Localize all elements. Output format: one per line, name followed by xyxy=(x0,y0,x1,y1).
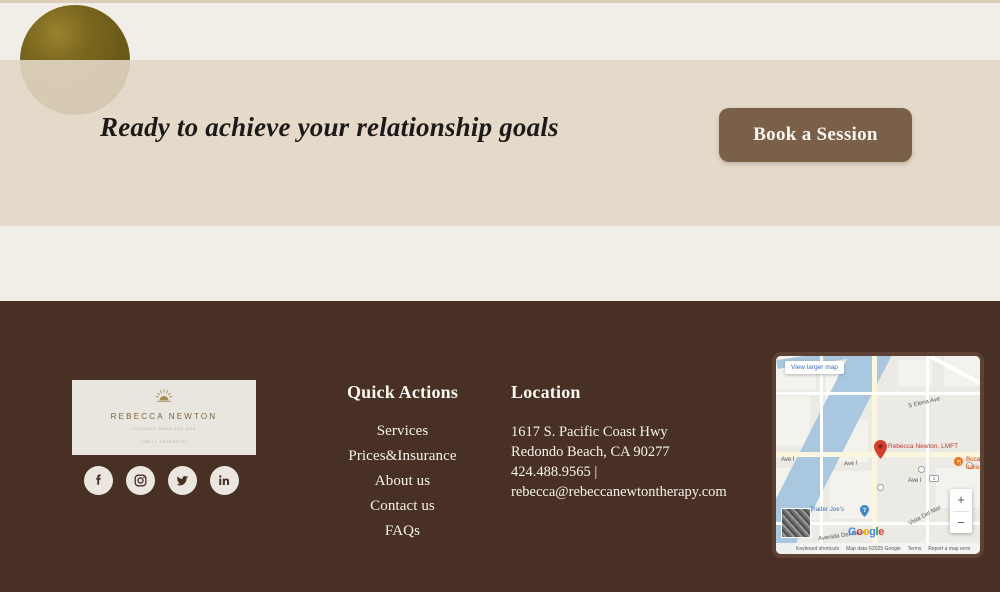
quick-actions-title: Quick Actions xyxy=(290,382,515,403)
brand-name: REBECCA NEWTON xyxy=(111,412,218,421)
map-canvas[interactable]: 1 Rebecca Newton, LMFT S Elena Ave Ave I… xyxy=(776,356,980,554)
map-marker-label: Rebecca Newton, LMFT xyxy=(888,443,958,450)
twitter-icon[interactable] xyxy=(168,466,197,495)
map-label-trader-joes[interactable]: Trader Joe's xyxy=(810,506,844,513)
map-transit-icon-1 xyxy=(918,466,925,473)
band-cream-bottom xyxy=(0,226,1000,301)
quick-actions-list: Services Prices&Insurance About us Conta… xyxy=(290,423,515,540)
location-title: Location xyxy=(511,382,766,403)
quick-action-services[interactable]: Services xyxy=(290,423,515,440)
keyboard-shortcuts-link[interactable]: Keyboard shortcuts xyxy=(796,546,839,552)
map-label-s-elena-ave: S Elena Ave xyxy=(908,396,941,409)
phone-number[interactable]: 424.488.9565 | xyxy=(511,462,766,482)
map-data-text: Map data ©2025 Google xyxy=(846,546,901,552)
map-highway-shield: 1 xyxy=(929,475,939,482)
quick-actions-column: Quick Actions Services Prices&Insurance … xyxy=(290,382,515,548)
google-map-widget[interactable]: 1 Rebecca Newton, LMFT S Elena Ave Ave I… xyxy=(772,352,984,558)
google-logo: Google xyxy=(848,526,884,538)
quick-action-faqs[interactable]: FAQs xyxy=(290,523,515,540)
linkedin-icon[interactable] xyxy=(210,466,239,495)
band-cream-top xyxy=(0,3,1000,60)
map-marker-pin[interactable] xyxy=(874,440,887,459)
map-label-ave-i-left: Ave I xyxy=(781,457,795,463)
report-map-error-link[interactable]: Report a map error xyxy=(928,546,970,552)
address-line-1: 1617 S. Pacific Coast Hwy xyxy=(511,422,766,442)
map-label-ave-i-mid: Ave I xyxy=(844,461,858,468)
zoom-out-button[interactable]: − xyxy=(950,512,972,534)
brand-tagline-line2: FAMILY THERAPIST xyxy=(140,439,187,447)
email-address[interactable]: rebecca@rebeccanewtontherapy.com xyxy=(511,482,766,502)
map-label-buca-line2: Italia xyxy=(966,464,979,471)
quick-action-prices-insurance[interactable]: Prices&Insurance xyxy=(290,448,515,465)
map-poi-restaurant-icon[interactable] xyxy=(954,457,963,466)
zoom-in-button[interactable]: + xyxy=(950,489,972,511)
brand-tagline-line1: LICENSED MARRIAGE AND xyxy=(132,426,196,434)
map-label-ave-i-right: Ave I xyxy=(908,478,922,484)
book-a-session-button[interactable]: Book a Session xyxy=(719,108,912,162)
map-attribution-bar: Keyboard shortcuts Map data ©2025 Google… xyxy=(776,543,980,554)
social-links xyxy=(84,466,239,495)
map-label-buca-line1: Buca xyxy=(966,456,980,463)
map-street-view-thumbnail[interactable] xyxy=(781,508,811,538)
terms-link[interactable]: Terms xyxy=(908,546,922,552)
brand-logo-card: REBECCA NEWTON LICENSED MARRIAGE AND FAM… xyxy=(72,380,256,455)
sunburst-icon xyxy=(155,389,173,407)
page-title: Ready to achieve your relationship goals xyxy=(100,112,559,143)
map-zoom-controls[interactable]: + − xyxy=(950,489,972,533)
map-trader-joes-pin[interactable] xyxy=(860,504,868,515)
view-larger-map-button[interactable]: View larger map xyxy=(785,361,844,374)
map-transit-icon-2 xyxy=(877,484,884,491)
quick-action-about-us[interactable]: About us xyxy=(290,473,515,490)
quick-action-contact-us[interactable]: Contact us xyxy=(290,498,515,515)
facebook-icon[interactable] xyxy=(84,466,113,495)
address-line-2: Redondo Beach, CA 90277 xyxy=(511,442,766,462)
location-column: Location 1617 S. Pacific Coast Hwy Redon… xyxy=(511,382,766,502)
instagram-icon[interactable] xyxy=(126,466,155,495)
location-details: 1617 S. Pacific Coast Hwy Redondo Beach,… xyxy=(511,422,766,502)
